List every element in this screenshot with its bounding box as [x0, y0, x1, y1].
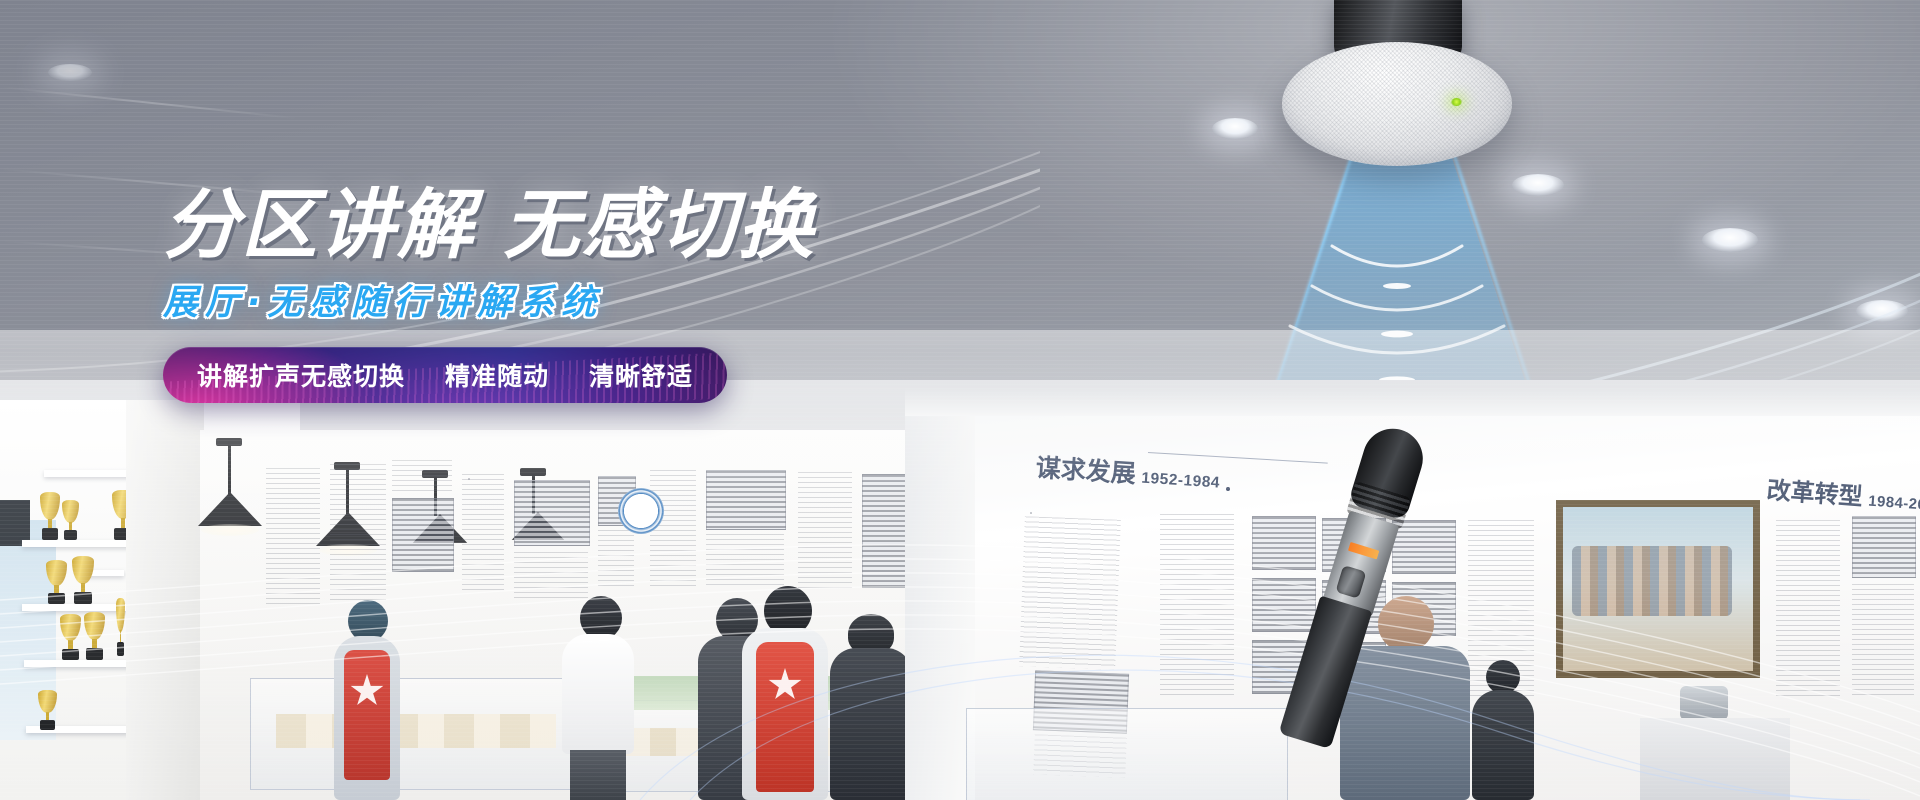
school-emblem-icon	[618, 488, 664, 534]
exhibit-heading-2-title: 改革转型	[1766, 477, 1864, 511]
visitor-torso	[1472, 690, 1534, 800]
exhibit-text-panel	[598, 530, 634, 586]
exhibit-heading-2-years: 1984-2010	[1868, 493, 1920, 514]
pendant-rod	[228, 444, 231, 494]
exhibit-heading-1-years: 1952-1984	[1141, 470, 1221, 492]
downlight-icon	[1512, 174, 1564, 196]
downlight-icon	[1702, 228, 1758, 252]
exhibit-heading-1-title: 谋求发展	[1035, 454, 1137, 488]
visitor-head	[1378, 596, 1434, 652]
exhibit-heading-dot	[1226, 487, 1230, 491]
display-pedestal	[966, 708, 1288, 800]
banner-stage: 谋求发展1952-1984 改革转型1984-2010	[0, 0, 1920, 800]
exhibit-photo	[1852, 516, 1916, 578]
feature-item-1: 讲解扩声无感切换	[197, 357, 405, 393]
exhibit-photo	[392, 498, 454, 572]
visitor-figure	[828, 614, 914, 800]
exhibit-text-panel	[650, 470, 696, 590]
visitor-figure	[558, 596, 638, 800]
trophy-icon	[72, 556, 94, 604]
pendant-light-glow	[201, 524, 259, 536]
trophy-icon	[46, 560, 67, 604]
hall-pillar	[126, 400, 204, 800]
trophy-icon	[84, 612, 105, 660]
exhibit-text-panel	[706, 534, 784, 588]
exhibit-text-panel	[392, 460, 452, 494]
feature-item-2: 精准随动	[445, 357, 549, 393]
visitor-torso	[830, 648, 912, 800]
pendant-lamp-icon	[198, 492, 262, 526]
exhibit-photo	[514, 480, 590, 546]
visitor-figure	[740, 586, 832, 800]
feature-pill: 讲解扩声无感切换 精准随动 清晰舒适	[163, 347, 727, 403]
exhibit-photo	[1030, 512, 1032, 514]
exhibit-text-panel	[514, 552, 588, 598]
banner-subline: 展厅·无感随行讲解系统	[163, 274, 1063, 325]
exhibit-text-panel	[1019, 516, 1121, 670]
exhibit-text-panel	[1852, 584, 1914, 696]
visitor-figure	[1472, 660, 1534, 800]
visitor-legs	[570, 750, 626, 800]
exhibit-text-panel	[462, 474, 504, 594]
wall-corner-column	[905, 400, 975, 800]
display-case-contents	[276, 714, 556, 748]
exhibit-photo	[706, 470, 786, 530]
trophy-shelf	[22, 540, 132, 547]
visitor-torso	[562, 634, 634, 754]
visitor-figure	[330, 600, 404, 800]
speaker-grille	[1282, 42, 1512, 166]
downlight-icon	[48, 64, 92, 81]
ceiling-speaker-icon	[1282, 0, 1512, 180]
exhibit-text-panel	[330, 464, 386, 604]
trophy-icon	[62, 500, 79, 540]
visitor-vest	[756, 642, 814, 792]
downlight-icon	[1212, 118, 1258, 139]
exhibit-text-panel	[1776, 520, 1840, 700]
display-pedestal-base	[1640, 718, 1790, 800]
trophy-icon	[40, 492, 60, 540]
exhibit-text-panel	[1160, 514, 1234, 696]
display-pedestal-object	[1680, 686, 1728, 720]
framed-portrait-photo	[468, 478, 470, 480]
banner-copy: 分区讲解 无感切换 展厅·无感随行讲解系统 讲解扩声无感切换 精准随动 清晰舒适	[163, 186, 1063, 403]
trophy-icon	[38, 690, 57, 730]
exhibit-photo	[1252, 516, 1316, 570]
visitor-vest	[344, 650, 390, 780]
trophy-shelf	[24, 660, 132, 667]
visitor-head	[1486, 660, 1520, 694]
downlight-icon	[1856, 300, 1908, 322]
banner-headline: 分区讲解 无感切换	[163, 186, 1063, 264]
trophy-icon	[60, 614, 81, 660]
trophy-icon	[116, 598, 125, 656]
painting-figures	[1572, 546, 1732, 616]
feature-item-3: 清晰舒适	[589, 357, 693, 393]
exhibit-text-panel	[266, 468, 320, 604]
speaker-status-led	[1451, 98, 1462, 106]
exhibit-text-panel	[798, 472, 852, 588]
